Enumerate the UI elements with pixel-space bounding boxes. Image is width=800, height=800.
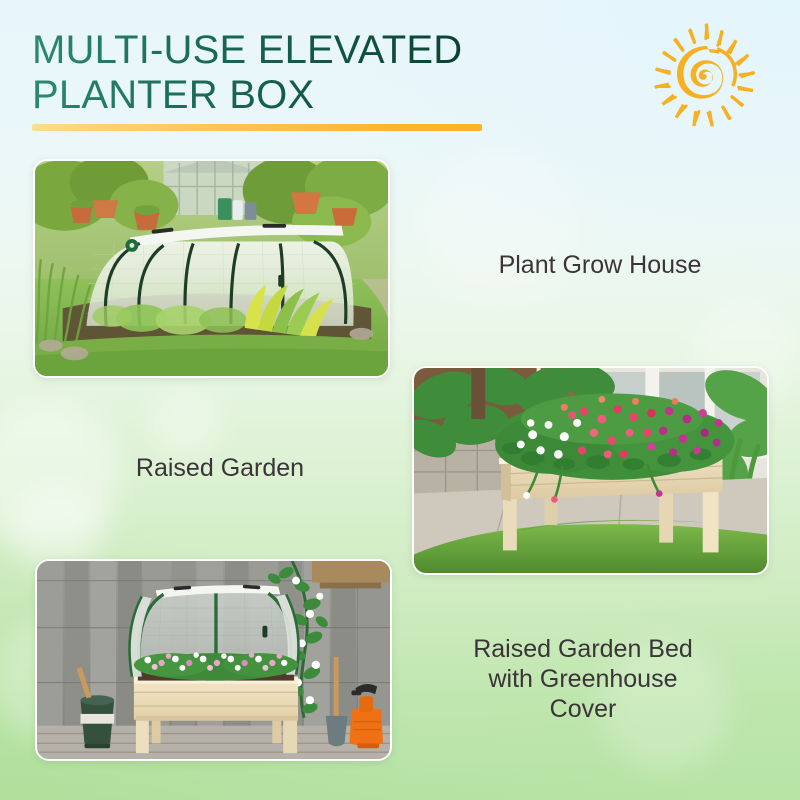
feature-image-card-plant-grow-house[interactable] <box>33 159 390 378</box>
plant-grow-house-photo <box>35 161 388 376</box>
feature-image-card-raised-garden-bed-greenhouse-cover[interactable] <box>35 559 392 761</box>
raised-garden-bed-greenhouse-cover-photo <box>37 561 390 759</box>
background-bokeh-circle <box>420 150 580 310</box>
title-line-1: MULTI-USE ELEVATED <box>32 28 652 73</box>
caption-plant-grow-house: Plant Grow House <box>430 250 770 280</box>
header: MULTI-USE ELEVATED PLANTER BOX <box>0 0 800 150</box>
raised-garden-photo <box>414 368 767 573</box>
page-title: MULTI-USE ELEVATED PLANTER BOX <box>32 28 652 118</box>
feature-image-card-raised-garden[interactable] <box>412 366 769 575</box>
background-bokeh-circle <box>150 390 220 460</box>
caption-raised-garden: Raised Garden <box>50 453 390 483</box>
sun-spiral-icon <box>646 18 768 140</box>
title-underline-bar <box>32 124 482 131</box>
caption-raised-garden-bed-greenhouse-cover: Raised Garden Bed with Greenhouse Cover <box>408 634 758 724</box>
title-line-2: PLANTER BOX <box>32 73 652 118</box>
